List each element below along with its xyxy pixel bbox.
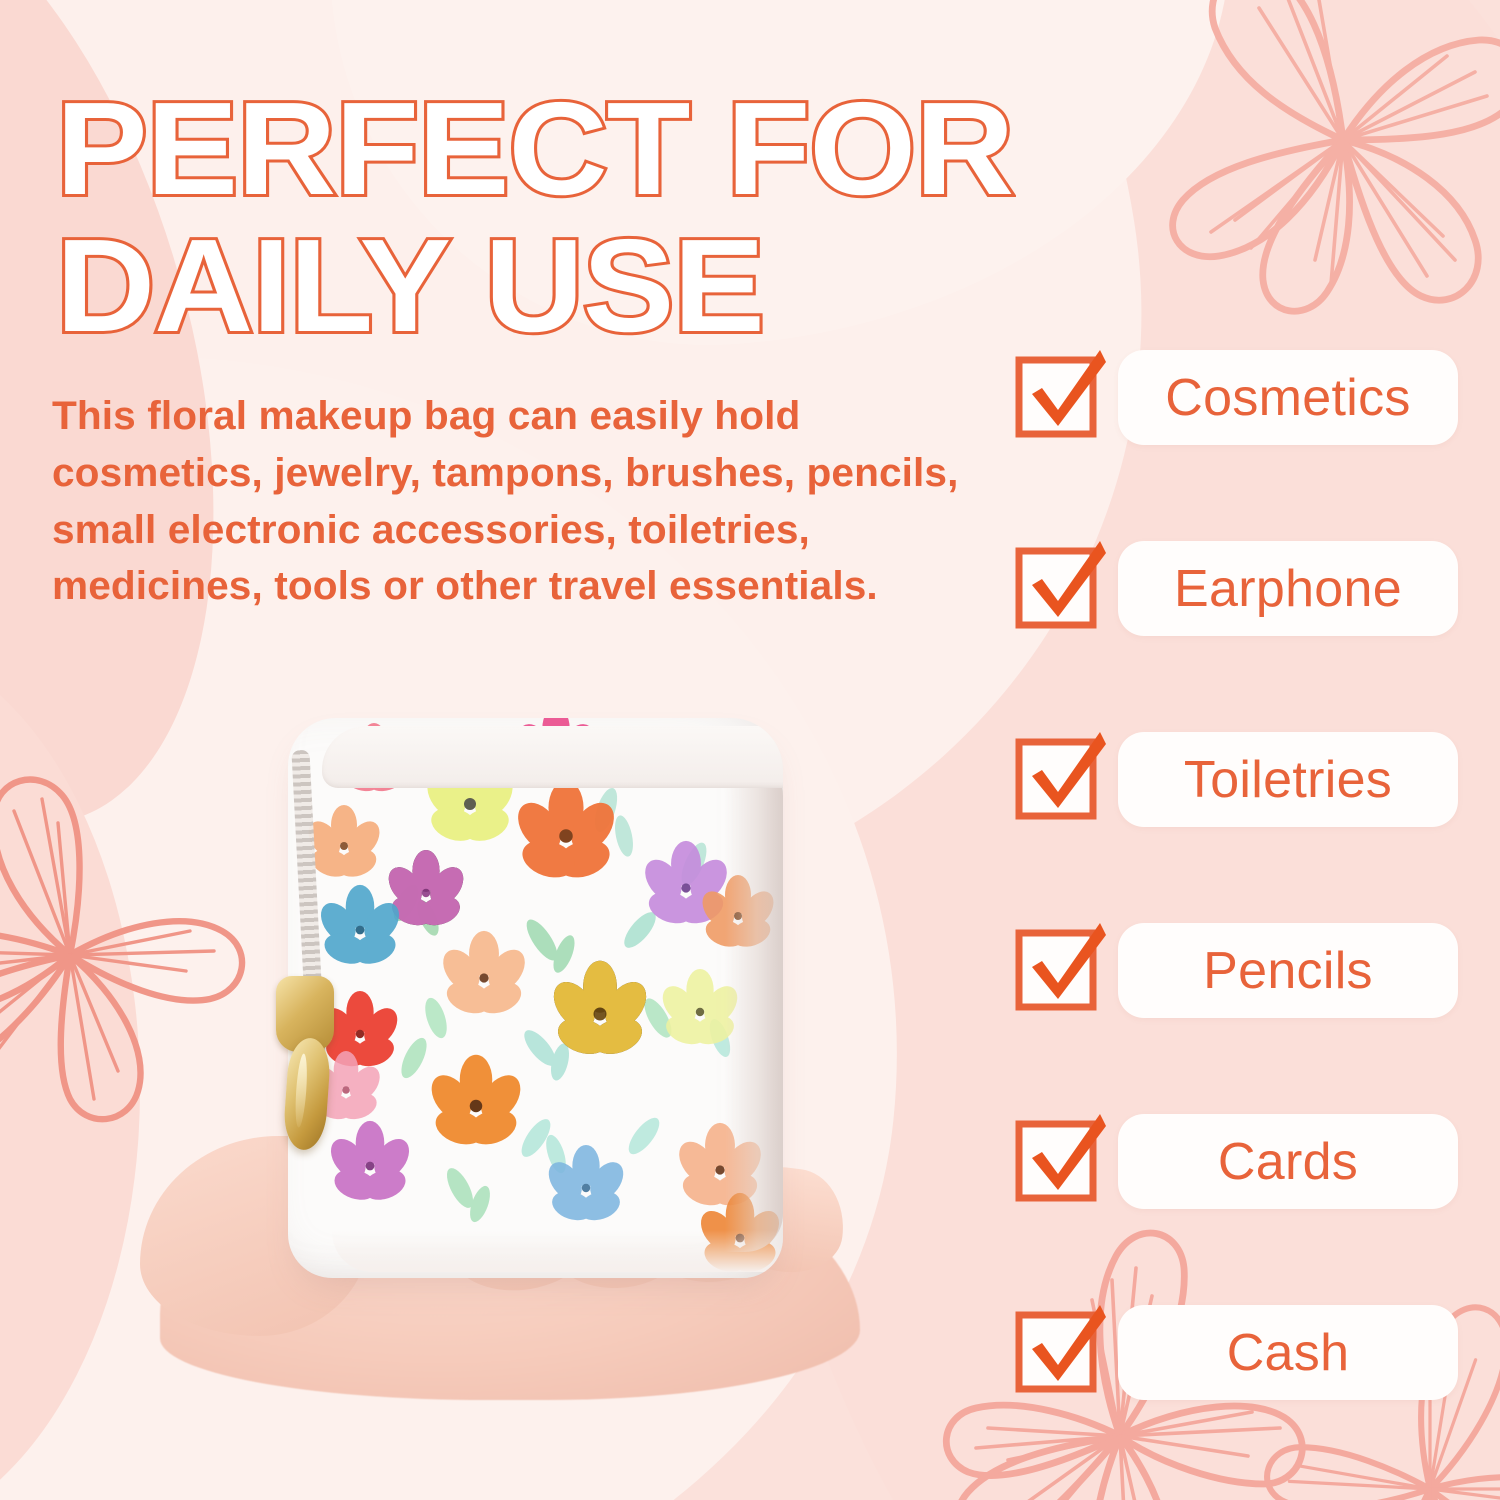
bag-top-seam	[322, 726, 783, 788]
page-title: PERFECT FOR DAILY USE	[56, 84, 1096, 351]
checkbox-checked-icon[interactable]	[1014, 348, 1110, 444]
checklist-item-label: Toiletries	[1184, 754, 1392, 806]
checklist-pill[interactable]: Earphone	[1118, 541, 1458, 636]
makeup-bag	[248, 708, 818, 1288]
bag-bottom-seam	[332, 1230, 783, 1272]
checklist-pill[interactable]: Pencils	[1118, 923, 1458, 1018]
checklist-item-label: Cosmetics	[1165, 372, 1410, 424]
feature-checklist: Cosmetics Earphone Toiletr	[1010, 348, 1470, 1303]
checklist-item-label: Earphone	[1174, 563, 1402, 615]
checklist-item[interactable]: Cosmetics	[1010, 348, 1470, 539]
bag-side-gusset	[725, 752, 783, 1252]
checkbox-checked-icon[interactable]	[1014, 1112, 1110, 1208]
checkbox-checked-icon[interactable]	[1014, 1303, 1110, 1399]
checkbox-checked-icon[interactable]	[1014, 921, 1110, 1017]
checkbox-checked-icon[interactable]	[1014, 539, 1110, 635]
checklist-pill[interactable]: Toiletries	[1118, 732, 1458, 827]
headline-line-1: PERFECT FOR	[56, 84, 1096, 213]
floral-print-pattern	[288, 718, 783, 1278]
checklist-pill[interactable]: Cash	[1118, 1305, 1458, 1400]
product-description: This floral makeup bag can easily hold c…	[52, 388, 1011, 615]
checklist-item-label: Cash	[1227, 1327, 1350, 1379]
checklist-item[interactable]: Pencils	[1010, 921, 1470, 1112]
checklist-item[interactable]: Cards	[1010, 1112, 1470, 1303]
checklist-item[interactable]: Earphone	[1010, 539, 1470, 730]
promo-banner: PERFECT FOR DAILY USE This floral makeup…	[0, 0, 1500, 1500]
product-photo	[150, 680, 910, 1440]
headline-line-2: DAILY USE	[56, 221, 1096, 350]
checklist-pill[interactable]: Cosmetics	[1118, 350, 1458, 445]
checklist-item-label: Pencils	[1203, 945, 1373, 997]
checkbox-checked-icon[interactable]	[1014, 730, 1110, 826]
checklist-pill[interactable]: Cards	[1118, 1114, 1458, 1209]
bag-body	[288, 718, 783, 1278]
checklist-item-label: Cards	[1218, 1136, 1358, 1188]
checklist-item[interactable]: Toiletries	[1010, 730, 1470, 921]
